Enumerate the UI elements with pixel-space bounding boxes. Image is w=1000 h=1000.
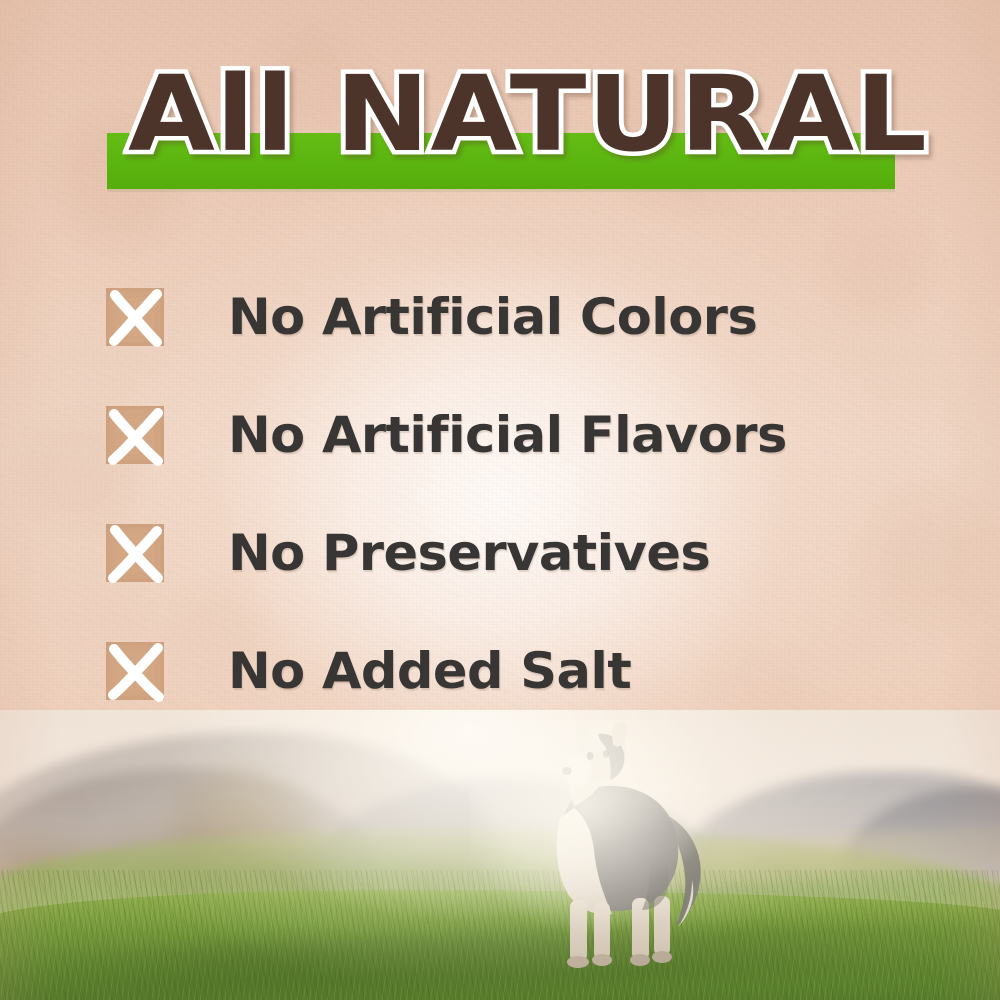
- list-item-label: No Artificial Colors: [228, 292, 757, 342]
- dog-in-field-photo: [0, 710, 1000, 1000]
- sun-haze-overlay: [0, 710, 1000, 1000]
- x-mark-icon: [106, 524, 164, 582]
- headline-block: All NATURAL: [0, 62, 1000, 202]
- list-item-label: No Added Salt: [228, 646, 631, 696]
- list-item-label: No Preservatives: [228, 528, 710, 578]
- list-item: No Artificial Colors: [0, 258, 1000, 376]
- list-item: No Artificial Flavors: [0, 376, 1000, 494]
- claims-checklist: No Artificial Colors No Artificial Flavo…: [0, 258, 1000, 730]
- list-item-label: No Artificial Flavors: [228, 410, 787, 460]
- x-mark-icon: [106, 288, 164, 346]
- x-mark-icon: [106, 406, 164, 464]
- all-natural-poster: All NATURAL No Artificial Colors No Arti…: [0, 0, 1000, 1000]
- page-title: All NATURAL: [128, 62, 970, 166]
- page-title-text: All NATURAL: [128, 62, 928, 166]
- list-item: No Preservatives: [0, 494, 1000, 612]
- x-mark-icon: [106, 642, 164, 700]
